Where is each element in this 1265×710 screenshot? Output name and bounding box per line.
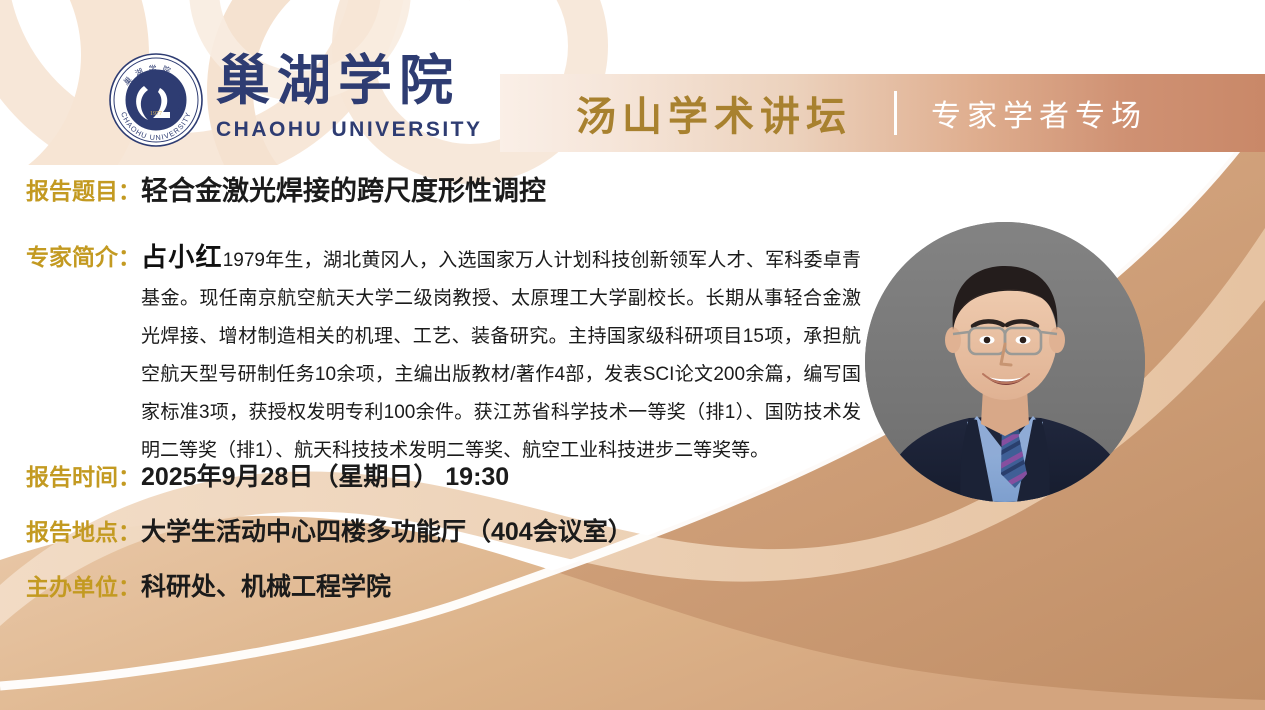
university-name-en: CHAOHU UNIVERSITY: [216, 118, 483, 142]
row-report-title: 报告题目： 轻合金激光焊接的跨尺度形性调控: [26, 174, 546, 208]
poster-canvas: 1977 CHAOHU UNIVERSITY 巢湖学院 巢湖学院 CHAOHU …: [0, 0, 1265, 710]
row-host-unit: 主办单位： 科研处、机械工程学院: [26, 570, 391, 604]
banner-divider: [894, 91, 897, 135]
speaker-bio-text: 占小红1979年生，湖北黄冈人，入选国家万人计划科技创新领军人才、军科委卓青基金…: [141, 238, 861, 470]
value-host-unit: 科研处、机械工程学院: [141, 570, 391, 604]
label-report-time: 报告时间：: [26, 460, 141, 494]
speaker-bio-body: 1979年生，湖北黄冈人，入选国家万人计划科技创新领军人才、军科委卓青基金。现任…: [141, 250, 861, 461]
speaker-portrait-photo: [865, 222, 1145, 502]
row-report-place: 报告地点： 大学生活动中心四楼多功能厅（404会议室）: [26, 515, 633, 549]
label-host-unit: 主办单位：: [26, 570, 141, 604]
university-name-cn: 巢湖学院: [216, 54, 460, 108]
banner-subtitle: 专家学者专场: [931, 91, 1147, 135]
value-report-title: 轻合金激光焊接的跨尺度形性调控: [141, 174, 546, 208]
value-report-place: 大学生活动中心四楼多功能厅（404会议室）: [141, 515, 633, 549]
label-report-place: 报告地点：: [26, 515, 141, 549]
row-report-time: 报告时间： 2025年9月28日（星期日） 19:30: [26, 460, 509, 494]
forum-banner: 汤山学术讲坛 专家学者专场: [500, 74, 1265, 152]
chaohu-university-seal-icon: 1977 CHAOHU UNIVERSITY 巢湖学院: [108, 52, 204, 148]
banner-main-title: 汤山学术讲坛: [576, 84, 852, 142]
value-report-time: 2025年9月28日（星期日） 19:30: [141, 460, 509, 494]
label-speaker-bio: 专家简介：: [26, 238, 141, 276]
row-speaker-bio: 专家简介： 占小红1979年生，湖北黄冈人，入选国家万人计划科技创新领军人才、军…: [26, 238, 876, 470]
svg-text:1977: 1977: [150, 111, 162, 117]
poster-header: 1977 CHAOHU UNIVERSITY 巢湖学院 巢湖学院 CHAOHU …: [0, 0, 1265, 160]
speaker-name: 占小红: [141, 242, 223, 272]
label-report-title: 报告题目：: [26, 174, 141, 208]
